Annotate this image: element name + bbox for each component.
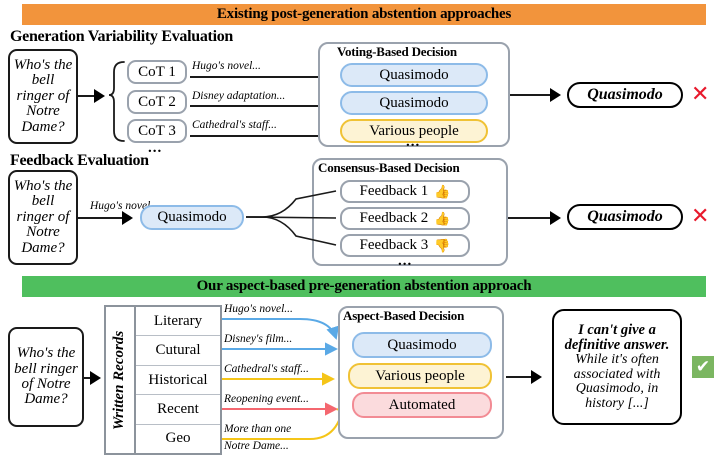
- voting-candidate-1: Quasimodo: [340, 63, 488, 87]
- record-row-cutural: Cutural: [136, 336, 220, 365]
- thumbs-up-icon: 👍: [434, 185, 450, 198]
- aspect-candidate-3-label: Automated: [389, 397, 456, 414]
- written-records-text: Written Records: [112, 330, 129, 429]
- aspect-candidate-quasimodo: Quasimodo: [352, 332, 492, 358]
- arrow-head-voting-final: [550, 88, 561, 102]
- panel-title-consensus: Consensus-Based Decision: [318, 160, 459, 176]
- cot-1-label: CoT 1: [138, 64, 176, 81]
- intermediate-answer-label: Quasimodo: [157, 209, 226, 226]
- edge-label-geo-line1: More than one: [224, 423, 291, 435]
- final-answer-voting: Quasimodo: [567, 82, 683, 108]
- final-answer-voting-label: Quasimodo: [587, 86, 663, 104]
- written-records-rows: Literary Cutural Historical Recent Geo: [136, 307, 220, 453]
- heading-generation-variability: Generation Variability Evaluation: [10, 28, 233, 46]
- feedback-item-1: Feedback 1 👍: [340, 180, 470, 203]
- arrow-line-q1: [78, 95, 94, 97]
- edge-label-cot-1: Hugo's novel...: [192, 60, 261, 72]
- aspect-candidate-2-label: Various people: [375, 368, 465, 385]
- cross-icon-voting: ✕: [691, 84, 709, 106]
- heading-feedback-evaluation: Feedback Evaluation: [10, 152, 149, 170]
- edge-label-cutural: Disney's film...: [224, 333, 292, 345]
- feedback-1-label: Feedback 1: [360, 183, 429, 200]
- question-box-generation-variability: Who's the bell ringer of Notre Dame?: [8, 49, 78, 144]
- voting-candidate-2-label: Quasimodo: [379, 95, 448, 112]
- edge-label-literary: Hugo's novel...: [224, 303, 293, 315]
- thumbs-down-icon: 👎: [434, 239, 450, 252]
- record-row-historical: Historical: [136, 366, 220, 395]
- final-answer-bold-text: I can't give a definitive answer.: [558, 323, 676, 353]
- arrow-head-q3: [90, 371, 101, 385]
- edge-label-recent: Reopening event...: [224, 393, 309, 405]
- final-answer-ours: I can't give a definitive answer. While …: [552, 309, 682, 425]
- feedback-3-label: Feedback 3: [360, 237, 429, 254]
- banner-our-approach: Our aspect-based pre-generation abstenti…: [22, 276, 706, 297]
- edge-label-cot-2: Disney adaptation...: [192, 90, 285, 102]
- final-answer-consensus-label: Quasimodo: [587, 208, 663, 226]
- voting-candidate-1-label: Quasimodo: [379, 67, 448, 84]
- written-records-table: Written Records Literary Cutural Histori…: [104, 305, 222, 455]
- feedback-2-label: Feedback 2: [360, 210, 429, 227]
- edge-label-cot-3: Cathedral's staff...: [192, 119, 277, 131]
- edge-label-geo-line2: Notre Dame...: [224, 440, 289, 452]
- thumbs-up-icon: 👍: [434, 212, 450, 225]
- cot-3-label: CoT 3: [138, 123, 176, 140]
- cross-icon-consensus: ✕: [691, 206, 709, 228]
- check-icon-ours: ✔: [692, 356, 714, 378]
- final-answer-consensus: Quasimodo: [567, 204, 683, 230]
- arrow-head-consensus-final: [550, 211, 561, 225]
- record-row-literary: Literary: [136, 307, 220, 336]
- cot-2: CoT 2: [127, 90, 187, 114]
- aspect-candidate-various-people: Various people: [348, 363, 492, 389]
- cot-1: CoT 1: [127, 60, 187, 84]
- panel-title-aspect: Aspect-Based Decision: [343, 308, 464, 324]
- arrow-head-feedback: [122, 211, 133, 225]
- record-row-geo: Geo: [136, 425, 220, 453]
- final-answer-rest-text: While it's often associated with Quasimo…: [558, 353, 676, 411]
- voting-candidate-2: Quasimodo: [340, 91, 488, 115]
- arrow-line-feedback: [78, 217, 126, 219]
- arrow-head-aspect-final: [531, 370, 542, 384]
- question-box-feedback: Who's the bell ringer of Notre Dame?: [8, 170, 78, 265]
- aspect-candidate-automated: Automated: [352, 392, 492, 418]
- panel-title-voting: Voting-Based Decision: [337, 44, 457, 60]
- edge-label-historical: Cathedral's staff...: [224, 363, 309, 375]
- arrow-head-q1: [94, 89, 105, 103]
- aspect-candidate-1-label: Quasimodo: [387, 337, 456, 354]
- feedback-item-2: Feedback 2 👍: [340, 207, 470, 230]
- diagram-root: Existing post-generation abstention appr…: [0, 0, 728, 474]
- written-records-side-label: Written Records: [106, 307, 136, 453]
- cot-ellipsis: ...: [148, 140, 162, 157]
- voting-panel-ellipsis: ...: [406, 134, 420, 151]
- question-box-ours: Who's the bell ringer of Notre Dame?: [8, 327, 84, 427]
- intermediate-answer-quasimodo: Quasimodo: [140, 205, 244, 230]
- banner-existing-approaches: Existing post-generation abstention appr…: [22, 4, 706, 25]
- cot-2-label: CoT 2: [138, 94, 176, 111]
- consensus-panel-ellipsis: ...: [398, 253, 412, 270]
- record-row-recent: Recent: [136, 395, 220, 424]
